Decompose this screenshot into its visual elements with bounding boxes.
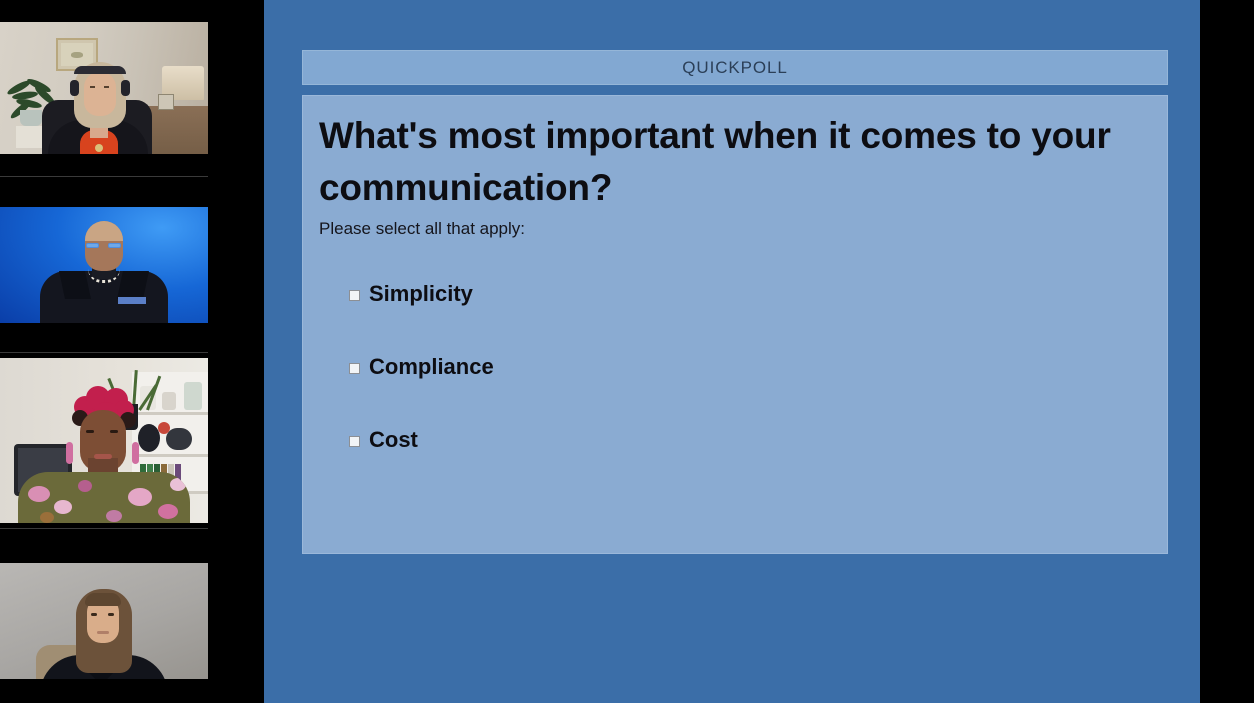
poll-options-list: Simplicity Compliance Cost [349, 283, 1109, 502]
checkbox-icon[interactable] [349, 290, 360, 301]
participant-tile-2[interactable] [0, 177, 208, 352]
poll-question-title: What's most important when it comes to y… [319, 110, 1155, 214]
poll-option-label: Simplicity [369, 283, 473, 305]
shared-slide-stage: QUICKPOLL What's most important when it … [264, 0, 1200, 703]
photo-frame-decor [158, 94, 174, 110]
poll-option-label: Cost [369, 429, 418, 451]
participant-video-3 [0, 358, 208, 523]
checkbox-icon[interactable] [349, 363, 360, 374]
poll-option-compliance[interactable]: Compliance [349, 356, 1109, 429]
poll-card: What's most important when it comes to y… [302, 95, 1168, 554]
participant-tile-3[interactable] [0, 353, 208, 528]
poll-instruction: Please select all that apply: [319, 219, 525, 239]
participant-video-4 [0, 563, 208, 679]
checkbox-icon[interactable] [349, 436, 360, 447]
screen-share-view: QUICKPOLL What's most important when it … [0, 0, 1254, 703]
participant-tile-4[interactable] [0, 529, 208, 703]
participant-video-2 [0, 207, 208, 323]
participant-filmstrip [0, 0, 208, 703]
poll-option-label: Compliance [369, 356, 494, 378]
quickpoll-header-bar: QUICKPOLL [302, 50, 1168, 85]
poll-option-simplicity[interactable]: Simplicity [349, 283, 1109, 356]
poll-option-cost[interactable]: Cost [349, 429, 1109, 502]
quickpoll-header-label: QUICKPOLL [682, 58, 787, 78]
participant-video-1 [0, 22, 208, 154]
participant-tile-1[interactable] [0, 0, 208, 176]
name-badge-decor [118, 297, 146, 304]
dresser-decor [146, 106, 208, 154]
